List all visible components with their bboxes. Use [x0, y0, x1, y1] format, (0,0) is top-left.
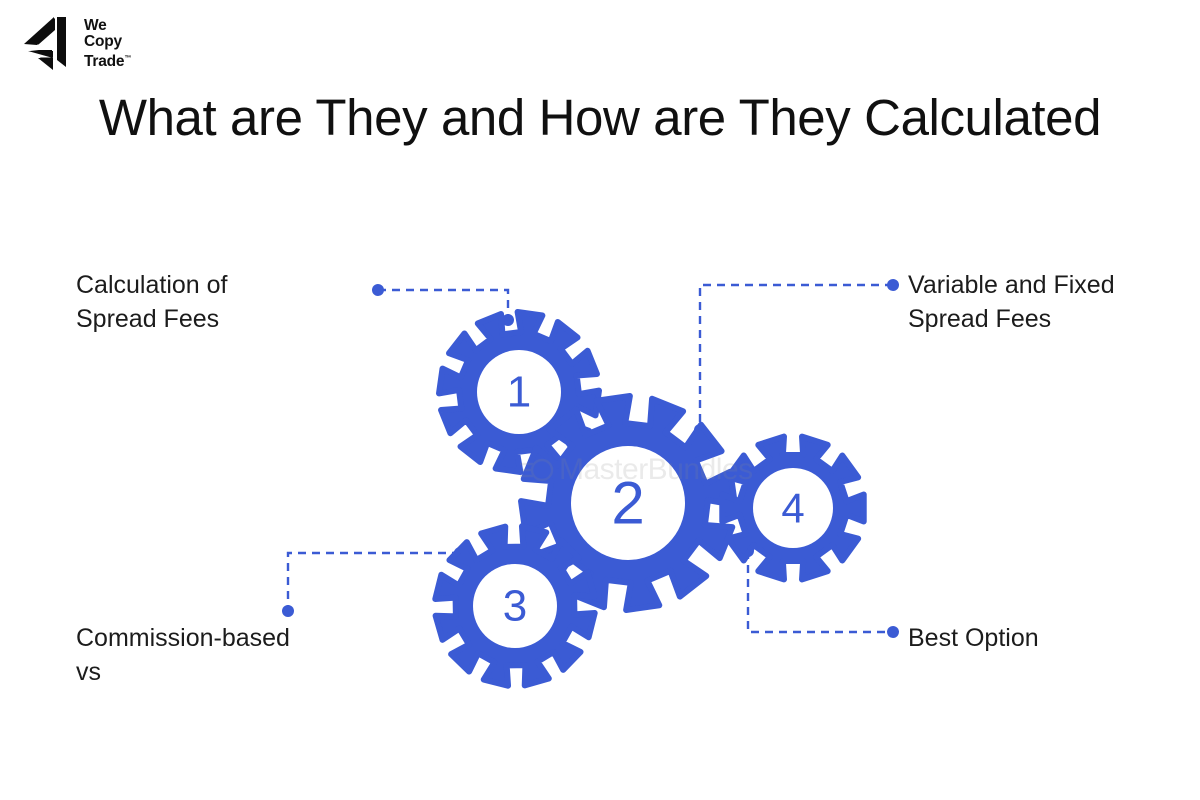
gear-group: 1234	[435, 312, 863, 686]
callout-label-4: Best Option	[908, 621, 1198, 655]
callout-label-2: Variable and Fixed Spread Fees	[908, 268, 1198, 336]
connector-2-line	[700, 285, 893, 430]
connector-4-dot-1	[887, 626, 899, 638]
connector-3-line	[288, 553, 460, 611]
gear-3-number: 3	[503, 582, 527, 631]
connector-1-line	[378, 290, 508, 320]
gear-3[interactable]: 3	[435, 526, 594, 685]
gear-4[interactable]: 4	[722, 437, 863, 580]
connector-3-dot-2	[282, 605, 294, 617]
gear-4-number: 4	[781, 485, 804, 532]
connector-2-dot-1	[887, 279, 899, 291]
connector-2	[694, 279, 899, 436]
gear-1-number: 1	[507, 368, 531, 417]
gear-2-number: 2	[611, 470, 644, 537]
callout-label-1: Calculation of Spread Fees	[76, 268, 376, 336]
infographic-page: We Copy Trade™ What are They and How are…	[0, 0, 1200, 800]
callout-label-3: Commission-based vs	[76, 621, 406, 689]
